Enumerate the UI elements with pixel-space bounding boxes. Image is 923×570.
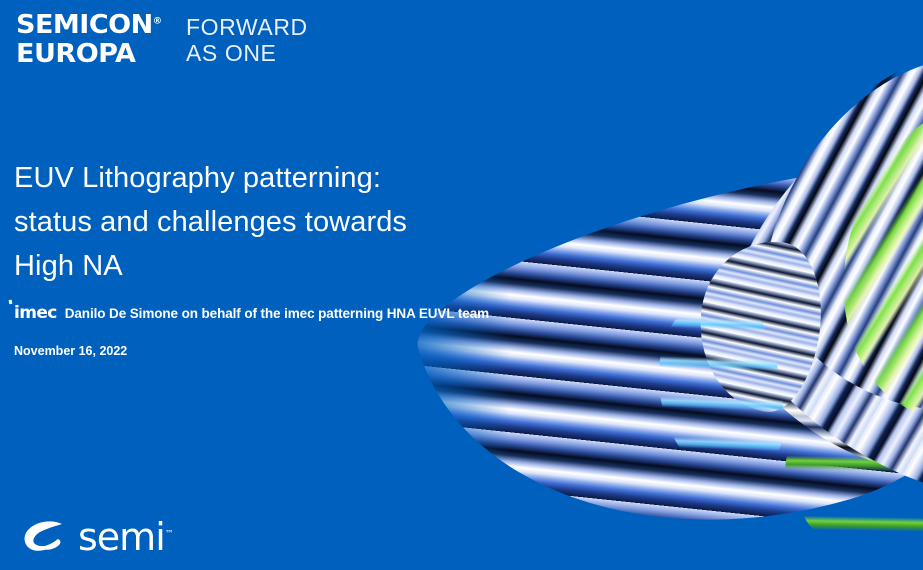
imec-logo: imec (14, 305, 57, 322)
artwork-topleft-fade (560, 0, 820, 240)
title-line-3: High NA (14, 244, 574, 288)
ribbon-waist-highlight (689, 232, 831, 417)
ribbon-fan-lower-silver (690, 82, 923, 558)
tagline-line-2: AS ONE (186, 40, 308, 66)
semicon-europa-wordmark: SEMICON® EUROPA (16, 12, 156, 67)
presentation-date: November 16, 2022 (14, 344, 127, 358)
title-block: EUV Lithography patterning: status and c… (14, 156, 574, 288)
author-text: Danilo De Simone on behalf of the imec p… (65, 306, 489, 321)
author-byline: imec Danilo De Simone on behalf of the i… (14, 305, 489, 322)
brand-semicon-text: SEMICON (16, 10, 153, 40)
semi-wordmark: semi™ (78, 518, 174, 556)
registered-trademark-icon: ® (153, 16, 162, 26)
semi-wordmark-text: semi (78, 515, 165, 559)
ribbon-green-streak-lower (760, 294, 923, 570)
ribbon-fan-upper-white (690, 0, 923, 551)
presentation-title-slide: SEMICON® EUROPA FORWARD AS ONE EUV Litho… (0, 0, 923, 570)
imec-dot-icon (9, 300, 12, 304)
event-tagline: FORWARD AS ONE (186, 12, 308, 66)
tagline-line-1: FORWARD (186, 14, 308, 40)
ribbon-cyan-edge (648, 293, 792, 488)
ribbon-green-streak-upper (800, 60, 923, 456)
semi-footer-logo: semi™ (22, 518, 174, 556)
trademark-icon: ™ (165, 529, 174, 539)
semi-swoosh-icon (22, 518, 68, 556)
title-line-1: EUV Lithography patterning: (14, 156, 574, 200)
ribbon-fan-upper-blue (735, 8, 923, 452)
ribbon-dark-bands-upper (745, 3, 923, 428)
page-title: EUV Lithography patterning: status and c… (14, 156, 574, 288)
semicon-europa-lockup: SEMICON® EUROPA FORWARD AS ONE (16, 12, 308, 67)
brand-line-semicon: SEMICON® (16, 12, 162, 38)
imec-logo-text: imec (14, 303, 57, 323)
brand-line-europa: EUROPA (16, 41, 162, 67)
title-line-2: status and challenges towards (14, 200, 574, 244)
